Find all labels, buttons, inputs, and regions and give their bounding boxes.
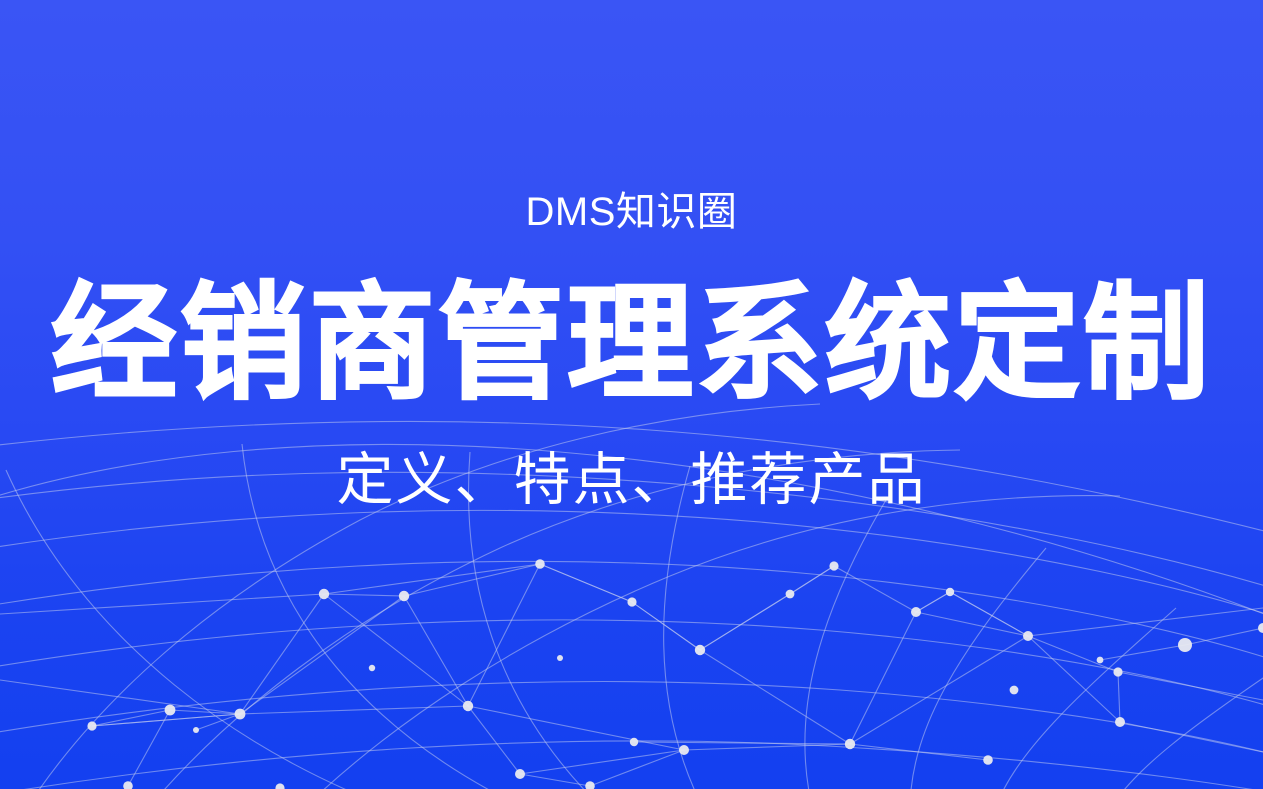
slide-subhead: 定义、特点、推荐产品 <box>337 452 927 509</box>
slide-text-stack: DMS知识圈 经销商管理系统定制 定义、特点、推荐产品 <box>0 0 1263 789</box>
slide-headline: 经销商管理系统定制 <box>51 281 1212 407</box>
slide-eyebrow: DMS知识圈 <box>526 192 738 232</box>
title-slide: DMS知识圈 经销商管理系统定制 定义、特点、推荐产品 <box>0 0 1263 789</box>
